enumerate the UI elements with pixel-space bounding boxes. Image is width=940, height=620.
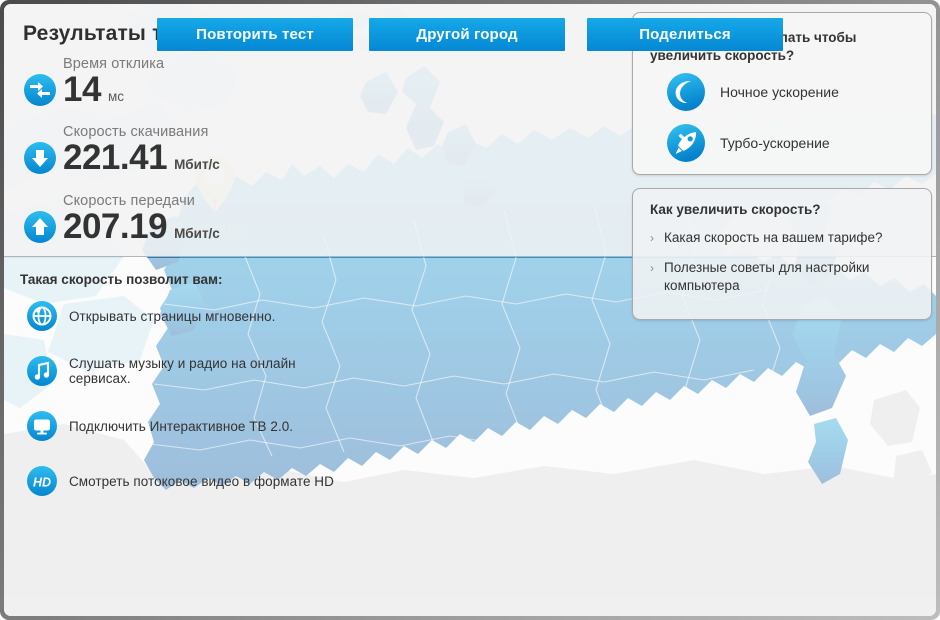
download-arrow-icon (23, 141, 57, 175)
chevron-right-icon: › (650, 229, 664, 247)
chevron-right-icon: › (650, 259, 664, 277)
boost-item-turbo[interactable]: Турбо-ускорение (666, 123, 830, 163)
benefits-title: Такая скорость позволит вам: (20, 272, 222, 287)
other-city-button[interactable]: Другой город (369, 18, 565, 51)
hd-badge-icon: HD (26, 465, 58, 497)
repeat-test-button[interactable]: Повторить тест (157, 18, 353, 51)
howto-panel: Как увеличить скорость? › Какая скорость… (632, 188, 932, 320)
metric-upload-value: 207.19 (63, 210, 167, 244)
benefit-label: Подключить Интерактивное ТВ 2.0. (69, 419, 293, 434)
share-button[interactable]: Поделиться (587, 18, 783, 51)
benefit-label: Открывать страницы мгновенно. (69, 309, 275, 324)
results-card-bottom: Такая скорость позволит вам: (4, 258, 349, 508)
howto-link-label: Полезные советы для настройки компьютера (664, 259, 920, 295)
benefit-label: Смотреть потоковое видео в формате HD (69, 474, 334, 489)
metric-upload-unit: Мбит/с (174, 226, 220, 244)
svg-text:HD: HD (33, 475, 51, 489)
map-stage: Архангельск Результаты теста Время откли… (4, 4, 936, 616)
benefit-item: Подключить Интерактивное ТВ 2.0. (26, 410, 346, 442)
ping-icon (23, 73, 57, 107)
boost-item-label: Турбо-ускорение (720, 135, 830, 151)
howto-link-label: Какая скорость на вашем тарифе? (664, 229, 883, 247)
benefit-label: Слушать музыку и радио на онлайн сервиса… (69, 356, 346, 386)
moon-icon (666, 72, 706, 112)
metric-ping: Время отклика (23, 56, 343, 107)
metric-upload: Скорость передачи (23, 193, 343, 244)
metric-download-value: 221.41 (63, 141, 167, 175)
speedtest-result-window: Архангельск Результаты теста Время откли… (0, 0, 940, 620)
benefit-item: Открывать страницы мгновенно. (26, 300, 346, 332)
howto-link-tariff-speed[interactable]: › Какая скорость на вашем тарифе? (650, 229, 920, 247)
metric-download-unit: Мбит/с (174, 157, 220, 175)
metric-ping-unit: мс (108, 89, 124, 107)
boost-item-label: Ночное ускорение (720, 84, 839, 100)
howto-link-computer-tips[interactable]: › Полезные советы для настройки компьюте… (650, 259, 920, 295)
rocket-icon (666, 123, 706, 163)
globe-icon (26, 300, 58, 332)
metric-download: Скорость скачивания (23, 124, 343, 175)
music-note-icon (26, 355, 58, 387)
boost-item-night[interactable]: Ночное ускорение (666, 72, 839, 112)
metric-ping-value: 14 (63, 73, 101, 107)
benefit-item: Слушать музыку и радио на онлайн сервиса… (26, 355, 346, 387)
monitor-icon (26, 410, 58, 442)
metric-ping-label: Время отклика (63, 56, 343, 72)
howto-panel-title: Как увеличить скорость? (650, 202, 821, 217)
results-card: Результаты теста Время отклика (4, 4, 349, 508)
benefit-item: HD Смотреть потоковое видео в формате HD (26, 465, 346, 497)
upload-arrow-icon (23, 210, 57, 244)
